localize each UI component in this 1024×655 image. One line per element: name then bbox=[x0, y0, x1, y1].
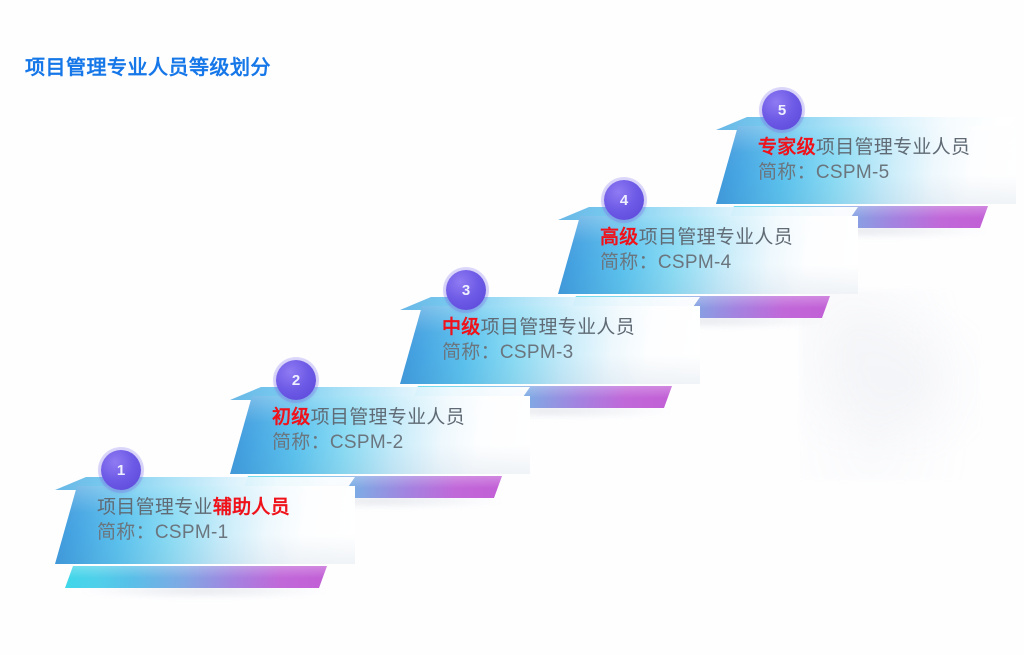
step-text-block: 初级项目管理专业人员 简称：CSPM-2 bbox=[272, 406, 542, 454]
step-number-badge: 2 bbox=[276, 360, 316, 400]
step-level-highlight: 专家级 bbox=[758, 137, 816, 158]
step-number-badge: 5 bbox=[762, 90, 802, 130]
step-abbr-line: 简称：CSPM-1 bbox=[97, 521, 367, 544]
step-level-highlight: 中级 bbox=[442, 317, 481, 338]
step-title-line: 初级项目管理专业人员 bbox=[272, 406, 542, 429]
step-level-highlight: 初级 bbox=[272, 407, 311, 428]
step-text-block: 高级项目管理专业人员 简称：CSPM-4 bbox=[600, 226, 870, 274]
step-level-highlight: 高级 bbox=[600, 227, 639, 248]
page-title: 项目管理专业人员等级划分 bbox=[25, 51, 271, 80]
step-number-badge: 4 bbox=[604, 180, 644, 220]
step-abbr-line: 简称：CSPM-2 bbox=[272, 431, 542, 454]
step-text-block: 项目管理专业辅助人员 简称：CSPM-1 bbox=[97, 496, 367, 544]
step-title-line: 专家级项目管理专业人员 bbox=[758, 136, 1024, 159]
step-title-line: 高级项目管理专业人员 bbox=[600, 226, 870, 249]
step-abbr-line: 简称：CSPM-4 bbox=[600, 251, 870, 274]
step-title-line: 项目管理专业辅助人员 bbox=[97, 496, 367, 519]
step-title-rest: 项目管理专业人员 bbox=[639, 227, 793, 248]
step-title-rest: 项目管理专业人员 bbox=[816, 137, 970, 158]
step-title-rest: 项目管理专业 bbox=[97, 497, 213, 518]
step-title-rest: 项目管理专业人员 bbox=[481, 317, 635, 338]
step-abbr-line: 简称：CSPM-3 bbox=[442, 341, 712, 364]
step-title-rest: 项目管理专业人员 bbox=[311, 407, 465, 428]
step-1[interactable]: 1 项目管理专业辅助人员 简称：CSPM-1 bbox=[55, 468, 355, 592]
step-level-highlight: 辅助人员 bbox=[213, 497, 290, 518]
step-number-badge: 1 bbox=[101, 450, 141, 490]
step-abbr-line: 简称：CSPM-5 bbox=[758, 161, 1024, 184]
step-title-line: 中级项目管理专业人员 bbox=[442, 316, 712, 339]
step-text-block: 专家级项目管理专业人员 简称：CSPM-5 bbox=[758, 136, 1024, 184]
step-text-block: 中级项目管理专业人员 简称：CSPM-3 bbox=[442, 316, 712, 364]
diagram-canvas: 项目管理专业人员等级划分 5 专家级项目管理专业人员 简称：CSPM-5 4 高… bbox=[0, 0, 1024, 655]
step-number-badge: 3 bbox=[446, 270, 486, 310]
slab-base-strip bbox=[65, 566, 327, 588]
